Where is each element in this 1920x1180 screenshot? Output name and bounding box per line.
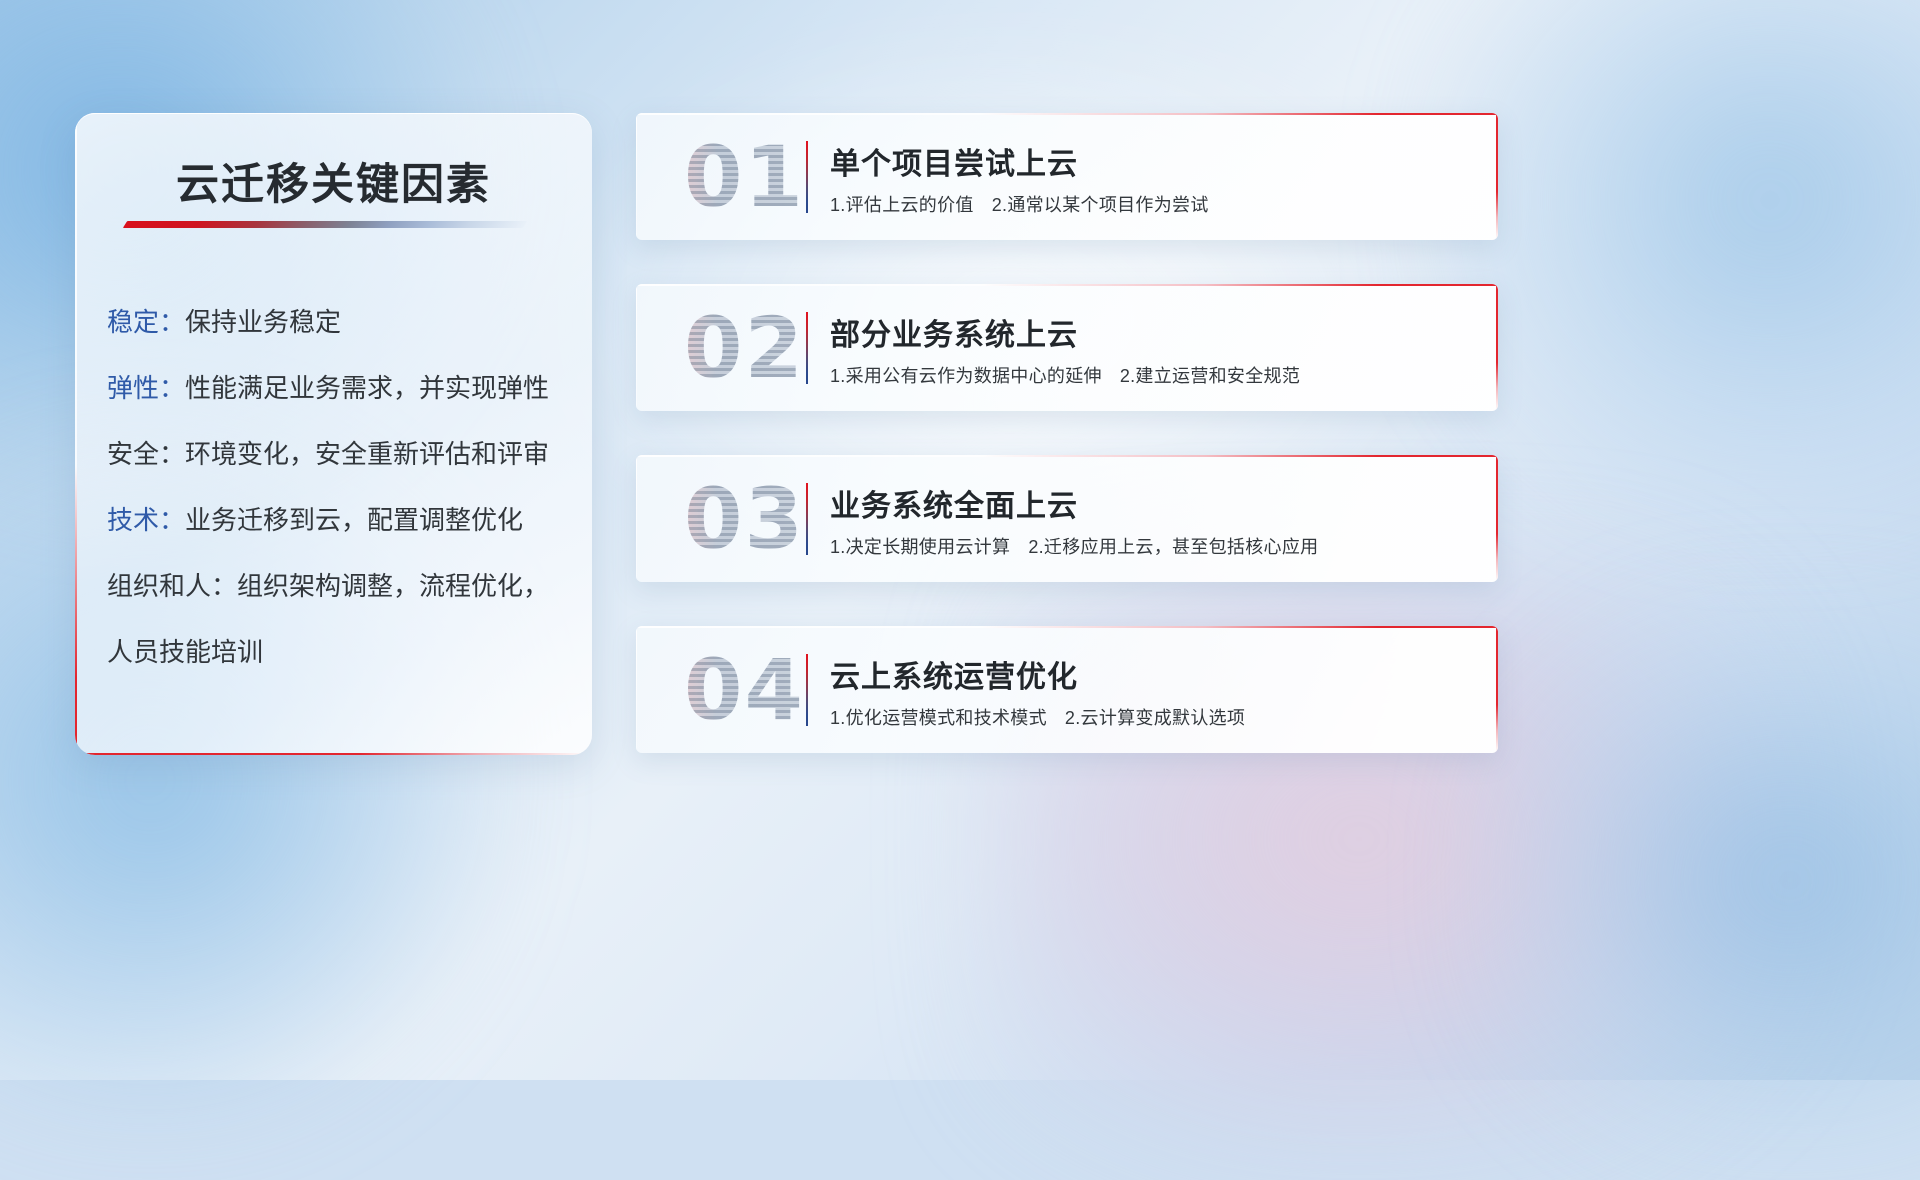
card-edge-top <box>636 626 1498 628</box>
list-item-text: 环境变化，安全重新评估和评审 <box>185 439 549 469</box>
stage-divider <box>806 654 808 726</box>
card-edge-right <box>1496 113 1498 240</box>
background-blob-top-right <box>1430 0 1920 520</box>
stage-card[interactable]: 04 云上系统运营优化 1.优化运营模式和技术模式2.云计算变成默认选项 <box>636 626 1498 753</box>
card-edge-right <box>1496 626 1498 753</box>
stage-divider <box>806 141 808 213</box>
background-blob-bottom-right <box>1480 600 1920 1160</box>
list-item: 安全：环境变化，安全重新评估和评审 <box>107 441 568 467</box>
list-item-label: 技术： <box>107 505 185 535</box>
list-item-text: 组织架构调整，流程优化， <box>237 571 549 601</box>
key-factors-list: 稳定：保持业务稳定 弹性：性能满足业务需求，并实现弹性 安全：环境变化，安全重新… <box>107 309 568 665</box>
stage-description-part-1: 1.决定长期使用云计算 <box>830 537 1010 557</box>
card-edge-top <box>636 113 1498 115</box>
list-item: 组织和人：组织架构调整，流程优化， <box>107 573 568 599</box>
list-item-label: 安全： <box>107 439 185 469</box>
stage-description-part-2: 2.云计算变成默认选项 <box>1065 708 1245 728</box>
list-item-text: 人员技能培训 <box>107 637 263 667</box>
stage-number: 04 <box>684 644 834 736</box>
key-factors-panel: 云迁移关键因素 稳定：保持业务稳定 弹性：性能满足业务需求，并实现弹性 安全：环… <box>75 113 592 755</box>
stage-description-part-2: 2.迁移应用上云，甚至包括核心应用 <box>1028 537 1318 557</box>
card-edge-left <box>636 113 637 240</box>
stage-number: 03 <box>684 473 834 565</box>
list-item-continuation: 人员技能培训 <box>107 639 568 665</box>
stage-title: 云上系统运营优化 <box>830 652 1078 696</box>
card-edge-left <box>636 626 637 753</box>
stage-divider <box>806 483 808 555</box>
stage-number: 01 <box>684 131 834 223</box>
stage-description-part-1: 1.优化运营模式和技术模式 <box>830 708 1047 728</box>
stage-number: 02 <box>684 302 834 394</box>
card-edge-top <box>636 284 1498 286</box>
list-item: 稳定：保持业务稳定 <box>107 309 568 335</box>
list-item: 弹性：性能满足业务需求，并实现弹性 <box>107 375 568 401</box>
stage-card[interactable]: 01 单个项目尝试上云 1.评估上云的价值2.通常以某个项目作为尝试 <box>636 113 1498 240</box>
stage-card[interactable]: 02 部分业务系统上云 1.采用公有云作为数据中心的延伸2.建立运营和安全规范 <box>636 284 1498 411</box>
list-item-text: 保持业务稳定 <box>185 307 341 337</box>
panel-title-underline <box>123 221 527 228</box>
list-item: 技术：业务迁移到云，配置调整优化 <box>107 507 568 533</box>
stage-description-part-2: 2.通常以某个项目作为尝试 <box>992 195 1209 215</box>
panel-edge-top <box>75 113 592 114</box>
card-edge-left <box>636 455 637 582</box>
stage-title: 单个项目尝试上云 <box>830 139 1078 183</box>
stage-description-part-1: 1.评估上云的价值 <box>830 195 974 215</box>
list-item-label: 弹性： <box>107 373 185 403</box>
stage-title: 部分业务系统上云 <box>830 310 1078 354</box>
card-edge-left <box>636 284 637 411</box>
stage-description: 1.优化运营模式和技术模式2.云计算变成默认选项 <box>830 704 1245 730</box>
stage-description-part-2: 2.建立运营和安全规范 <box>1120 366 1300 386</box>
list-item-text: 性能满足业务需求，并实现弹性 <box>185 373 549 403</box>
stage-title: 业务系统全面上云 <box>830 481 1078 525</box>
list-item-label: 稳定： <box>107 307 185 337</box>
stage-description: 1.评估上云的价值2.通常以某个项目作为尝试 <box>830 191 1209 217</box>
panel-title: 云迁移关键因素 <box>75 150 592 212</box>
stage-card[interactable]: 03 业务系统全面上云 1.决定长期使用云计算2.迁移应用上云，甚至包括核心应用 <box>636 455 1498 582</box>
stage-description: 1.决定长期使用云计算2.迁移应用上云，甚至包括核心应用 <box>830 533 1318 559</box>
list-item-label: 组织和人： <box>107 571 237 601</box>
list-item-text: 业务迁移到云，配置调整优化 <box>185 505 523 535</box>
stage-divider <box>806 312 808 384</box>
panel-edge-bottom <box>75 753 592 755</box>
card-edge-right <box>1496 284 1498 411</box>
card-edge-right <box>1496 455 1498 582</box>
stage-description: 1.采用公有云作为数据中心的延伸2.建立运营和安全规范 <box>830 362 1300 388</box>
stage-description-part-1: 1.采用公有云作为数据中心的延伸 <box>830 366 1102 386</box>
card-edge-top <box>636 455 1498 457</box>
